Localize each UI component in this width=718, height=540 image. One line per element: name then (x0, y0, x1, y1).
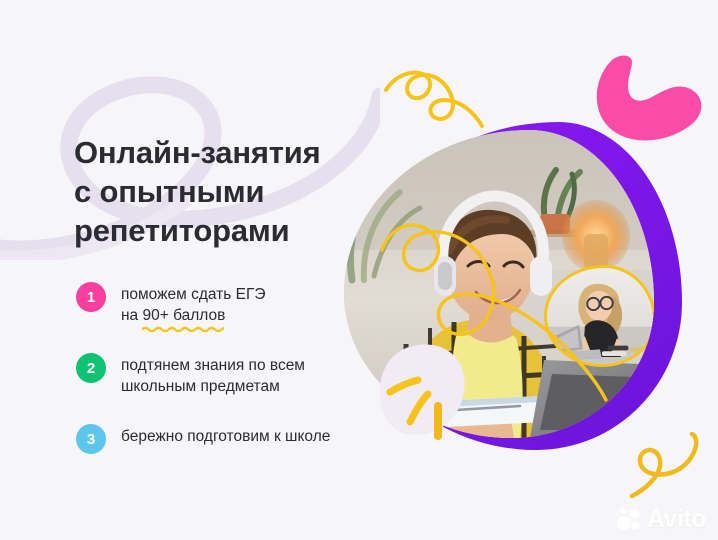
bullet-2-line-1: подтянем знания по всем (121, 355, 305, 376)
promo-poster: Онлайн-занятия с опытными репетиторами 1… (0, 0, 718, 540)
bullet-2-line-2: школьным предметам (121, 376, 305, 397)
bullet-number-badge-3: 3 (76, 424, 106, 454)
bullet-1-prefix: на (121, 307, 143, 324)
yellow-squiggle-top-decoration (382, 62, 498, 130)
bullet-1-highlight-wrapper: 90+ баллов (143, 305, 226, 326)
avito-dots-icon (616, 506, 642, 532)
bullet-1-line-1: поможем сдать ЕГЭ (121, 284, 266, 305)
bullet-1-highlight: 90+ баллов (143, 307, 226, 324)
bullet-1-line-2: на 90+ баллов (121, 305, 266, 326)
bullet-number-badge-1: 1 (76, 282, 106, 312)
headline-line-1: Онлайн-занятия (74, 133, 384, 172)
bullet-3-line-1: бережно подготовим к школе (121, 426, 330, 447)
wavy-underline-icon (142, 325, 225, 332)
bullet-text-1: поможем сдать ЕГЭ на 90+ баллов (121, 281, 266, 326)
bullet-number-badge-2: 2 (76, 353, 106, 383)
headline-line-2: с опытными (74, 172, 384, 211)
page-title: Онлайн-занятия с опытными репетиторами (74, 133, 384, 250)
bullet-text-3: бережно подготовим к школе (121, 423, 330, 447)
hero-photo-group (358, 122, 682, 450)
tutor-inset-photo (544, 265, 654, 367)
tutor-photo-artwork (547, 268, 653, 365)
headline-line-3: репетиторами (74, 211, 384, 250)
student-photo (344, 130, 654, 438)
avito-wordmark: Avito (647, 507, 706, 532)
avito-watermark: Avito (616, 506, 706, 532)
bullet-text-2: подтянем знания по всем школьным предмет… (121, 352, 305, 397)
